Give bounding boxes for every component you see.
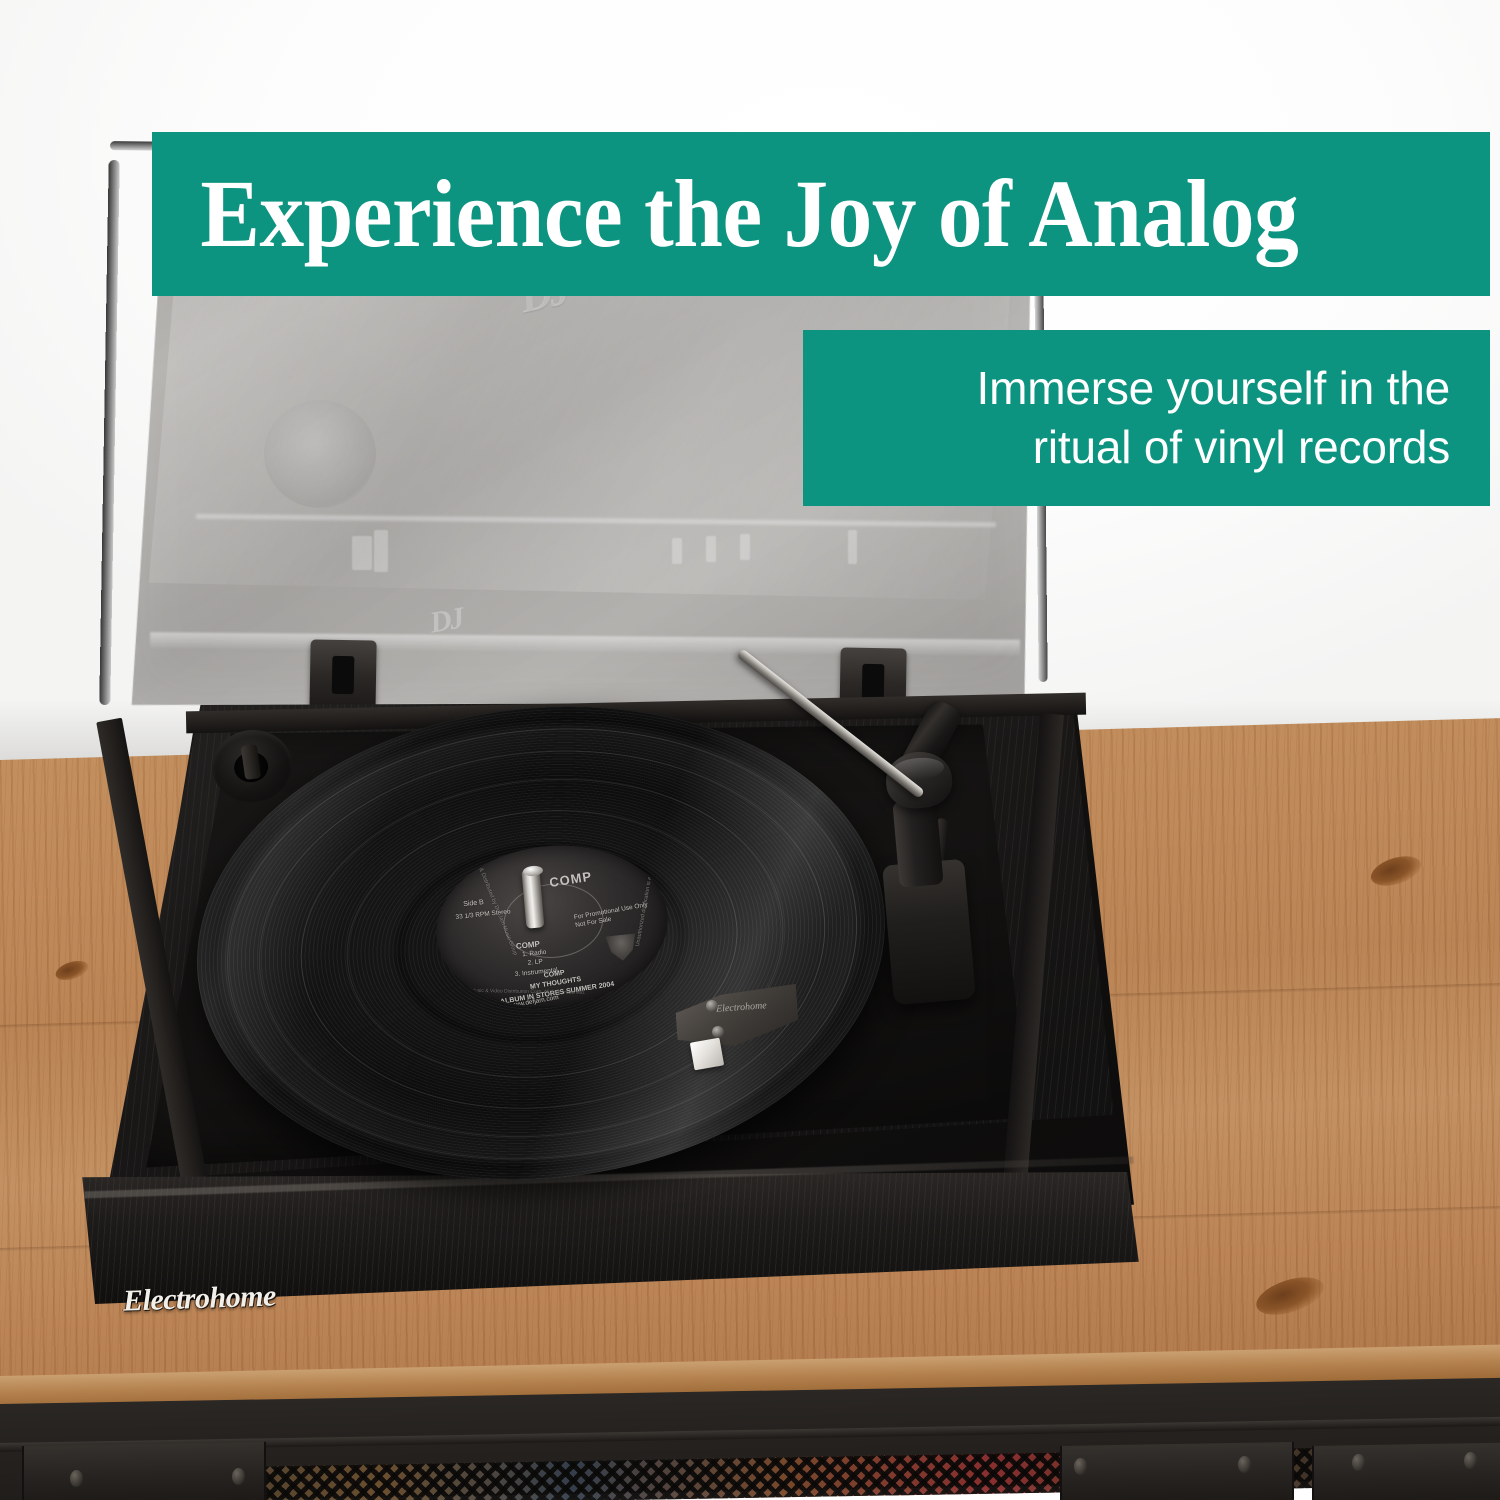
dust-cover-ghost-control: [374, 530, 388, 572]
subtitle-banner: Immerse yourself in the ritual of vinyl …: [803, 330, 1490, 506]
headshell-screw: [712, 1026, 724, 1038]
label-shield-icon: [605, 933, 638, 962]
headline-text: Experience the Joy of Analog: [152, 166, 1298, 262]
stylus-cartridge[interactable]: [690, 1038, 724, 1071]
poster-canvas: DJ DJ Electrohome COMP Side B: [0, 0, 1500, 1500]
dust-cover-ghost-control: [848, 530, 857, 564]
cabinet-panel: [1060, 1442, 1294, 1500]
headline-banner: Experience the Joy of Analog: [152, 132, 1490, 296]
label-copyright: Music & Video Distribution Corp. All rig…: [471, 988, 585, 996]
cabinet-panel: [22, 1442, 266, 1500]
tonearm-pillar: [892, 798, 943, 888]
subtitle-line-2: ritual of vinyl records: [1033, 421, 1450, 473]
dust-cover-logo-2: DJ: [427, 601, 465, 640]
subtitle-text: Immerse yourself in the ritual of vinyl …: [977, 359, 1490, 477]
brand-logo: Electrohome: [122, 1279, 276, 1318]
label-brand: COMP: [548, 869, 593, 892]
dust-cover-ghost-control: [740, 534, 750, 560]
headshell-screw: [706, 1000, 718, 1012]
dust-cover-ghost-control: [672, 538, 682, 564]
subtitle-line-1: Immerse yourself in the: [977, 362, 1450, 414]
dust-cover-ghost-control: [352, 536, 372, 570]
dust-cover-ghost-reflection: [264, 400, 376, 508]
label-side: Side B: [463, 899, 484, 910]
dust-cover-ghost-control: [706, 536, 716, 562]
